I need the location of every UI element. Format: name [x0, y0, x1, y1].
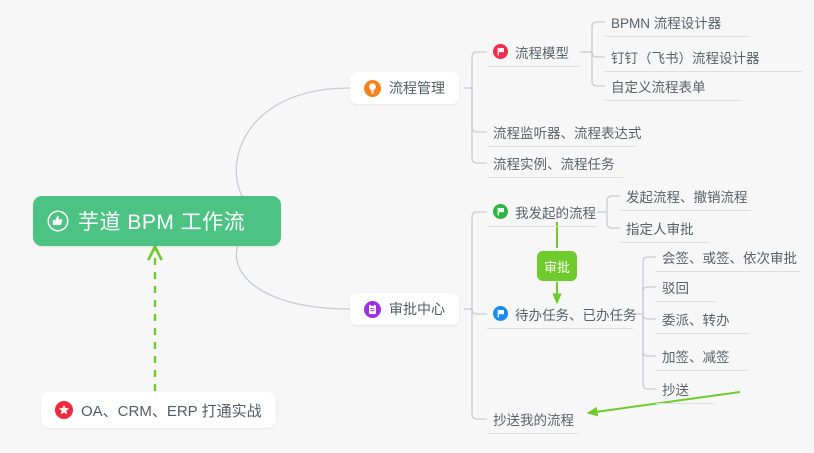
root-node[interactable]: 芋道 BPM 工作流 — [33, 196, 281, 246]
edge-ac-to-todo — [472, 309, 487, 314]
node-label: BPMN 流程设计器 — [611, 12, 721, 32]
branch-approval-center[interactable]: 审批中心 — [350, 293, 459, 325]
edge-todo-to-countersign — [643, 257, 656, 314]
node-assignee-approval[interactable]: 指定人审批 — [620, 213, 710, 243]
edge-pm-to-instance — [472, 88, 487, 163]
edge-pm-to-listener — [472, 88, 487, 132]
node-countersign-or-sequential[interactable]: 会签、或签、依次审批 — [656, 242, 800, 272]
branch-label: 流程管理 — [389, 78, 445, 98]
edge-ac-to-initiated — [472, 212, 487, 309]
node-label: 会签、或签、依次审批 — [662, 247, 797, 267]
node-label: 钉钉（飞书）流程设计器 — [611, 47, 760, 67]
node-add-remove-sign[interactable]: 加签、减签 — [656, 341, 747, 371]
node-label: 流程监听器、流程表达式 — [493, 122, 642, 142]
integration-note-label: OA、CRM、ERP 打通实战 — [81, 400, 262, 421]
node-label: 抄送我的流程 — [493, 409, 574, 429]
thumbs-up-icon — [47, 210, 69, 232]
star-icon — [55, 401, 73, 419]
edge-model-to-dingtalk — [592, 52, 605, 57]
node-instance-task[interactable]: 流程实例、流程任务 — [487, 148, 623, 178]
node-label: 我发起的流程 — [515, 202, 596, 222]
edge-init-to-assignee — [607, 212, 620, 228]
edge-ac-to-ccme — [472, 309, 487, 419]
node-label: 发起流程、撤销流程 — [626, 186, 748, 206]
flag-icon — [493, 44, 508, 59]
edge-todo-to-reject — [643, 287, 656, 314]
node-my-initiated-process[interactable]: 我发起的流程 — [487, 197, 597, 227]
flag-icon — [493, 204, 508, 219]
node-process-model[interactable]: 流程模型 — [487, 37, 580, 67]
edge-todo-to-delegate — [643, 314, 656, 319]
clipboard-icon — [364, 301, 381, 318]
edge-init-to-start — [607, 196, 620, 212]
root-label: 芋道 BPM 工作流 — [78, 206, 245, 236]
lightbulb-icon — [364, 80, 381, 97]
node-reject[interactable]: 驳回 — [656, 272, 716, 302]
edge-model-to-customform — [592, 52, 605, 86]
node-cc-to-me-process[interactable]: 抄送我的流程 — [487, 404, 578, 434]
edge-pm-trunk — [472, 52, 487, 88]
approval-badge[interactable]: 审批 — [537, 251, 577, 281]
flag-icon — [493, 306, 508, 321]
node-label: 驳回 — [662, 277, 689, 297]
node-label: 待办任务、已办任务 — [515, 304, 637, 324]
node-label: 指定人审批 — [626, 218, 694, 238]
node-bpmn-designer[interactable]: BPMN 流程设计器 — [605, 7, 750, 37]
node-label: 流程模型 — [515, 42, 569, 62]
node-delegate-transfer[interactable]: 委派、转办 — [656, 304, 750, 334]
edge-model-trunk-up — [592, 22, 605, 52]
branch-label: 审批中心 — [389, 299, 445, 319]
node-todo-done-tasks[interactable]: 待办任务、已办任务 — [487, 299, 633, 329]
node-start-cancel-process[interactable]: 发起流程、撤销流程 — [620, 181, 751, 211]
node-label: 自定义流程表单 — [611, 76, 706, 96]
node-dingtalk-feishu-designer[interactable]: 钉钉（飞书）流程设计器 — [605, 42, 802, 72]
edge-todo-to-cc — [643, 314, 656, 389]
node-custom-process-form[interactable]: 自定义流程表单 — [605, 71, 741, 101]
integration-note[interactable]: OA、CRM、ERP 打通实战 — [41, 392, 276, 428]
branch-process-management[interactable]: 流程管理 — [350, 72, 459, 104]
mindmap-canvas: 芋道 BPM 工作流 流程管理 流程模型 BPMN 流程设计器 钉钉（飞书 — [0, 0, 814, 453]
approval-badge-label: 审批 — [544, 257, 570, 276]
node-cc[interactable]: 抄送 — [656, 374, 714, 404]
edge-todo-to-addsign — [643, 314, 656, 356]
node-label: 加签、减签 — [662, 346, 730, 366]
node-label: 流程实例、流程任务 — [493, 153, 615, 173]
node-listener-expression[interactable]: 流程监听器、流程表达式 — [487, 117, 635, 147]
node-label: 抄送 — [662, 379, 689, 399]
node-label: 委派、转办 — [662, 309, 730, 329]
